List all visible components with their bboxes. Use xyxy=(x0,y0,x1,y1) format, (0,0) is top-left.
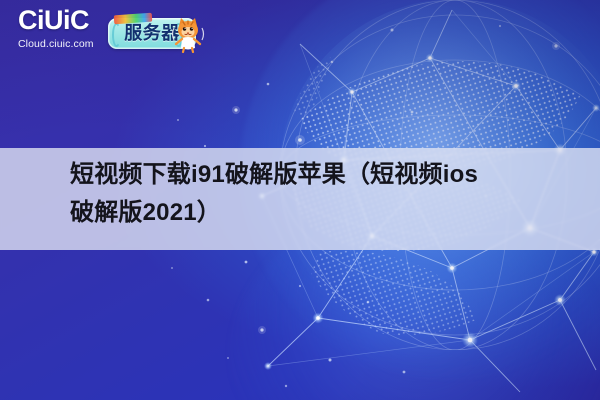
logo-tagline: Cloud.ciuic.com xyxy=(18,39,110,50)
banner-image: CiUiC Cloud.ciuic.com 服务器 xyxy=(0,0,600,400)
headline-line-1: 短视频下载i91破解版苹果（短视频ios xyxy=(70,156,570,194)
headline-line-2: 破解版2021） xyxy=(70,194,570,232)
site-logo[interactable]: CiUiC Cloud.ciuic.com xyxy=(18,7,110,50)
server-badge[interactable]: 服务器 xyxy=(108,14,206,53)
headline-text: 短视频下载i91破解版苹果（短视频ios 破解版2021） xyxy=(70,156,570,232)
orange-cat-mascot-icon xyxy=(170,14,206,53)
logo-wordmark: CiUiC xyxy=(18,7,110,34)
